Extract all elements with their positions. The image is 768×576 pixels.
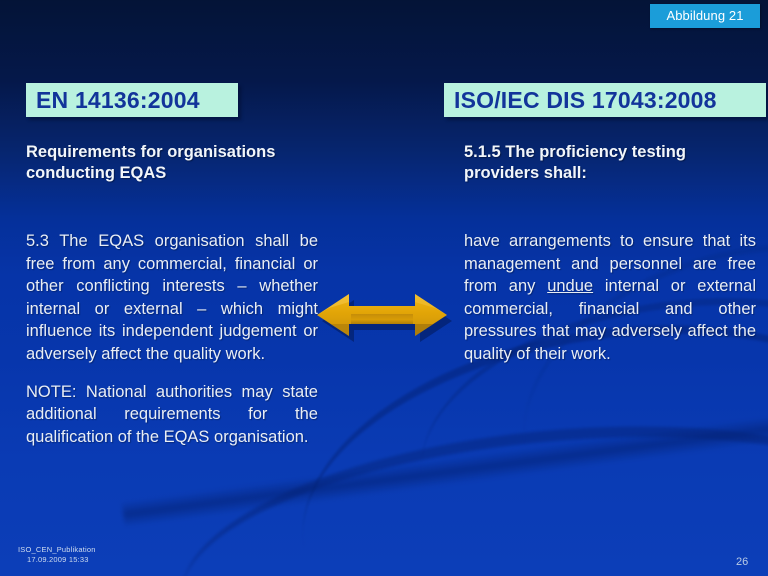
right-paragraph-underlined-term: undue [547, 277, 593, 295]
footer-source-label: ISO_CEN_Publikation [18, 545, 96, 555]
double-headed-arrow-icon [313, 290, 453, 342]
standard-title-left-label: EN 14136:2004 [36, 87, 200, 114]
left-column-heading: Requirements for organisations conductin… [26, 142, 318, 184]
right-column-spacer [464, 196, 756, 230]
right-column-clause-paragraph: have arrangements to ensure that its man… [464, 230, 756, 366]
right-column-heading: 5.1.5 The proficiency testing providers … [464, 142, 756, 184]
standard-title-right-label: ISO/IEC DIS 17043:2008 [454, 87, 717, 114]
footer-metadata: ISO_CEN_Publikation 17.09.2009 15:33 [18, 545, 96, 565]
left-column-note-paragraph: NOTE: National authorities may state add… [26, 381, 318, 449]
figure-badge: Abbildung 21 [650, 4, 760, 28]
left-column-clause-paragraph: 5.3 The EQAS organisation shall be free … [26, 230, 318, 366]
right-column: 5.1.5 The proficiency testing providers … [464, 142, 756, 366]
left-column-spacer [26, 196, 318, 230]
slide: Abbildung 21 EN 14136:2004 ISO/IEC DIS 1… [0, 0, 768, 576]
page-number: 26 [736, 556, 748, 568]
standard-title-en-14136: EN 14136:2004 [26, 83, 238, 117]
standard-title-iso-iec-17043: ISO/IEC DIS 17043:2008 [444, 83, 766, 117]
left-column: Requirements for organisations conductin… [26, 142, 318, 448]
footer-timestamp-label: 17.09.2009 15:33 [18, 555, 96, 565]
